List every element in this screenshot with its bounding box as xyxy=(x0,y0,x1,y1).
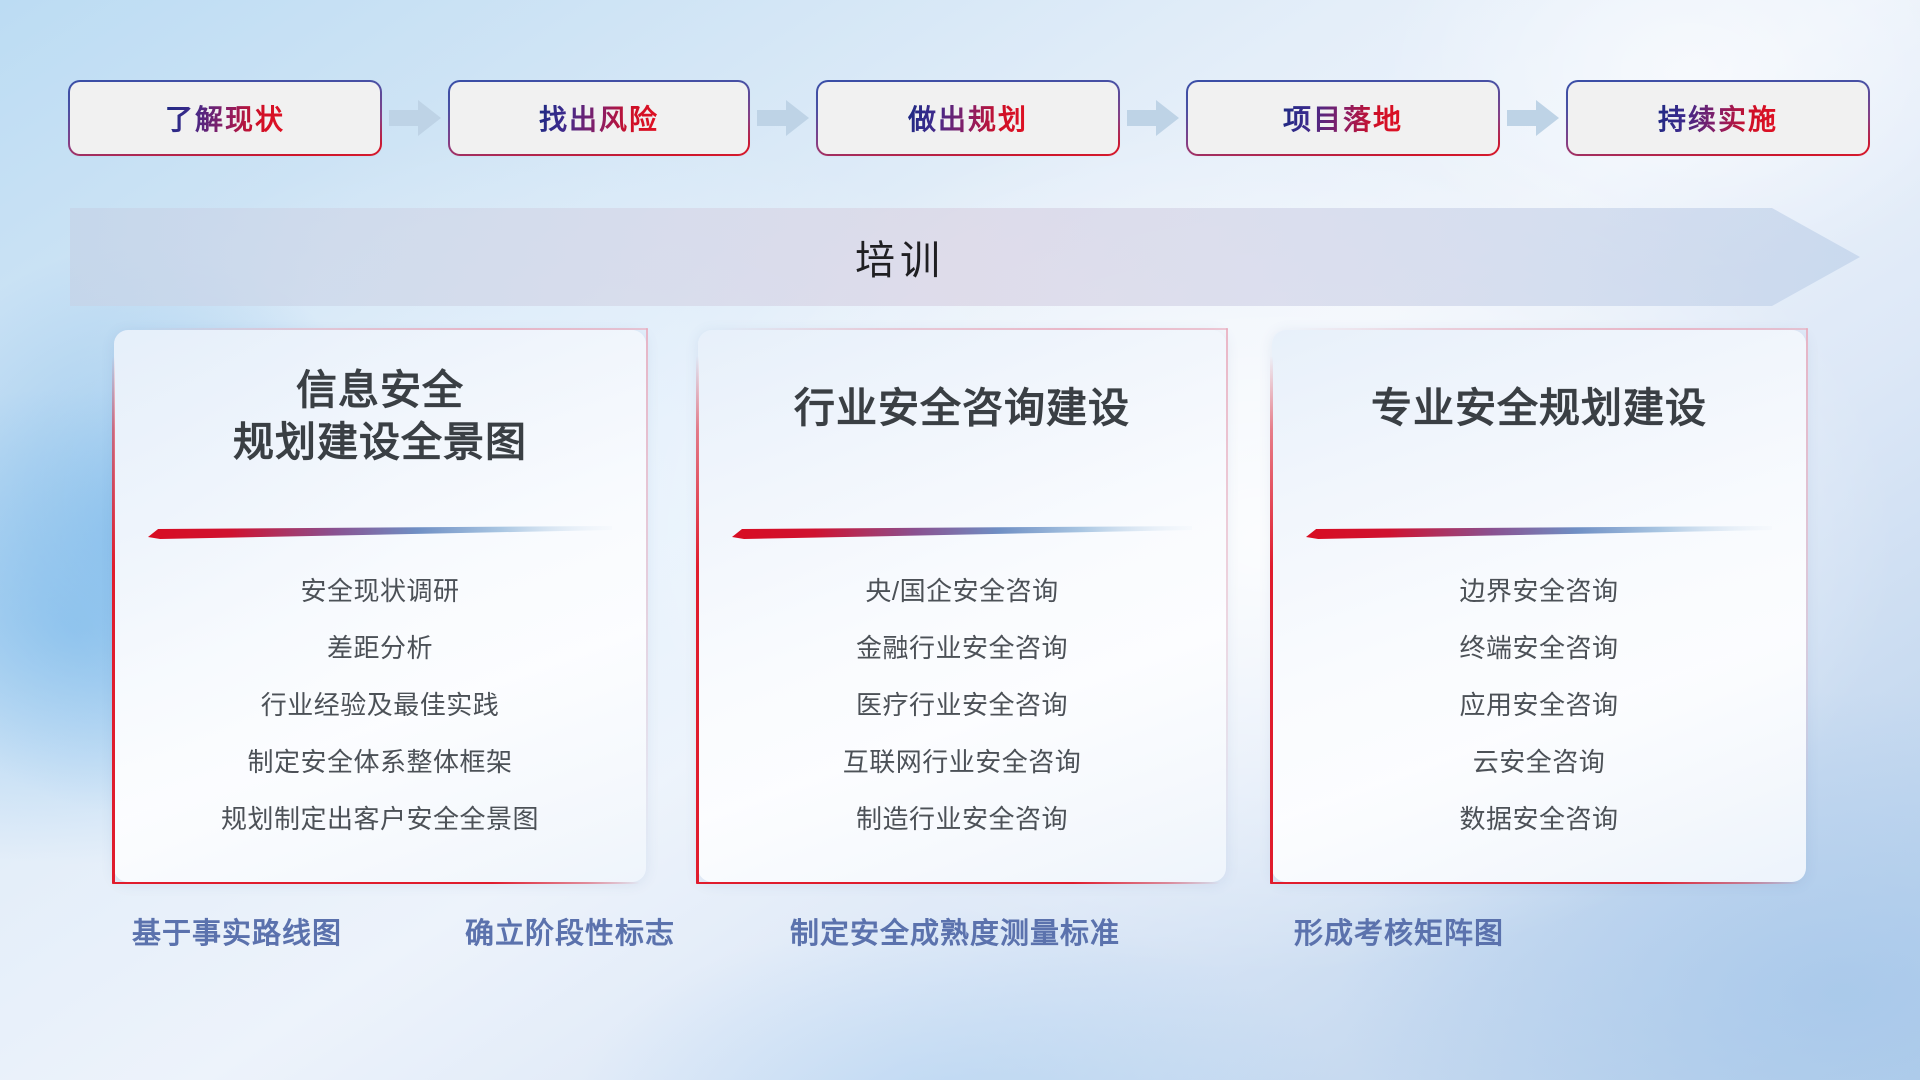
banner-title: 培训 xyxy=(70,208,1860,306)
infographic-canvas: 了解现状 找出风险 做出规划 项目落地 xyxy=(0,0,1920,1080)
process-step-label: 项目落地 xyxy=(1283,98,1403,138)
card-item-list: 央/国企安全咨询 金融行业安全咨询 医疗行业安全咨询 互联网行业安全咨询 制造行… xyxy=(712,568,1212,853)
footnote-row: 基于事实路线图 确立阶段性标志 制定安全成熟度测量标准 形成考核矩阵图 xyxy=(0,910,1920,970)
list-item: 规划制定出客户安全全景图 xyxy=(128,796,632,842)
list-item: 行业经验及最佳实践 xyxy=(128,682,632,728)
list-item: 医疗行业安全咨询 xyxy=(712,682,1212,728)
gradient-divider-icon xyxy=(732,526,1192,540)
arrow-right-icon xyxy=(754,96,812,140)
process-step-label: 了解现状 xyxy=(165,98,285,138)
card-accent-right xyxy=(1226,328,1228,852)
list-item: 制定安全体系整体框架 xyxy=(128,739,632,785)
card-item-list: 边界安全咨询 终端安全咨询 应用安全咨询 云安全咨询 数据安全咨询 xyxy=(1286,568,1792,853)
card-accent-bottom xyxy=(696,882,1220,885)
card-title: 信息安全 规划建设全景图 xyxy=(114,364,646,469)
arrow-right-icon xyxy=(386,96,444,140)
list-item: 云安全咨询 xyxy=(1286,739,1792,785)
process-step-label: 做出规划 xyxy=(908,98,1028,138)
card-accent-left xyxy=(696,356,699,884)
footnote-label: 基于事实路线图 xyxy=(132,910,342,952)
card-title-line: 信息安全 xyxy=(132,364,628,416)
list-item: 数据安全咨询 xyxy=(1286,796,1792,842)
card-item-list: 安全现状调研 差距分析 行业经验及最佳实践 制定安全体系整体框架 规划制定出客户… xyxy=(128,568,632,853)
list-item: 差距分析 xyxy=(128,625,632,671)
list-item: 应用安全咨询 xyxy=(1286,682,1792,728)
process-step-5[interactable]: 持续实施 xyxy=(1568,82,1868,154)
list-item: 边界安全咨询 xyxy=(1286,568,1792,614)
list-item: 终端安全咨询 xyxy=(1286,625,1792,671)
card-accent-right xyxy=(646,328,648,852)
footnote-label: 形成考核矩阵图 xyxy=(1294,910,1504,952)
card-professional-security-planning[interactable]: 专业安全规划建设 xyxy=(1272,330,1806,882)
card-title-line: 行业安全咨询建设 xyxy=(716,382,1208,434)
process-step-label: 找出风险 xyxy=(539,98,659,138)
card-accent-bottom xyxy=(1270,882,1800,885)
footnote-label: 确立阶段性标志 xyxy=(465,910,675,952)
list-item: 安全现状调研 xyxy=(128,568,632,614)
card-title-line: 规划建设全景图 xyxy=(132,416,628,468)
list-item: 制造行业安全咨询 xyxy=(712,796,1212,842)
card-title-line: 专业安全规划建设 xyxy=(1290,382,1788,434)
card-information-security[interactable]: 信息安全 规划建设全景图 xyxy=(114,330,646,882)
card-accent-top xyxy=(1296,328,1808,330)
arrow-right-icon xyxy=(1124,96,1182,140)
card-industry-security-consulting[interactable]: 行业安全咨询建设 xyxy=(698,330,1226,882)
gradient-divider-icon xyxy=(148,526,612,540)
list-item: 央/国企安全咨询 xyxy=(712,568,1212,614)
card-title: 专业安全规划建设 xyxy=(1272,382,1806,434)
training-banner: 培训 xyxy=(70,208,1860,306)
card-accent-left xyxy=(1270,356,1273,884)
arrow-right-icon xyxy=(1504,96,1562,140)
gradient-divider-icon xyxy=(1306,526,1772,540)
process-step-row: 了解现状 找出风险 做出规划 项目落地 xyxy=(70,78,1856,158)
card-accent-top xyxy=(138,328,648,330)
list-item: 金融行业安全咨询 xyxy=(712,625,1212,671)
process-step-3[interactable]: 做出规划 xyxy=(818,82,1118,154)
process-step-4[interactable]: 项目落地 xyxy=(1188,82,1498,154)
list-item: 互联网行业安全咨询 xyxy=(712,739,1212,785)
process-step-label: 持续实施 xyxy=(1658,98,1778,138)
card-accent-top xyxy=(722,328,1228,330)
footnote-label: 制定安全成熟度测量标准 xyxy=(790,910,1120,952)
card-accent-right xyxy=(1806,328,1808,852)
process-step-2[interactable]: 找出风险 xyxy=(450,82,748,154)
process-step-1[interactable]: 了解现状 xyxy=(70,82,380,154)
card-accent-bottom xyxy=(112,882,640,885)
card-title: 行业安全咨询建设 xyxy=(698,382,1226,434)
card-group: 信息安全 规划建设全景图 xyxy=(0,330,1920,890)
